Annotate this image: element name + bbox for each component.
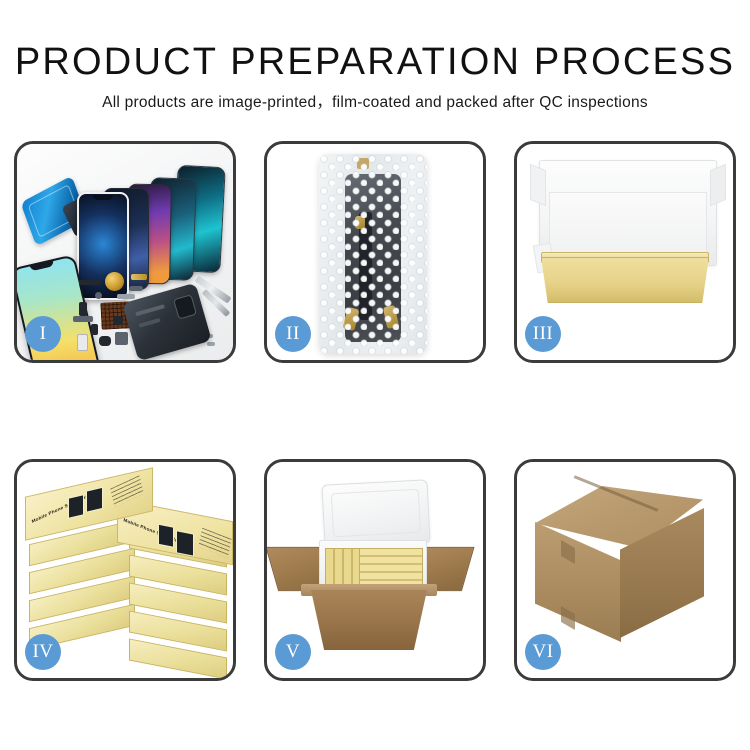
carton-body-icon: [303, 590, 435, 650]
housing-slot: [135, 304, 165, 316]
step-badge-1: I: [25, 316, 61, 352]
part-icon: [115, 332, 128, 345]
process-step-panel-4: Mobile Phone Spare Parts Mobile Phone Sp…: [14, 459, 236, 681]
box-spec-lines: [198, 528, 231, 558]
foam-lid-icon: [321, 479, 430, 548]
box-window-icon: [176, 530, 194, 556]
product-preparation-infographic: PRODUCT PREPARATION PROCESS All products…: [0, 0, 750, 750]
foam-sheet-icon: [549, 192, 707, 260]
box-window-icon: [68, 494, 84, 519]
part-icon: [77, 334, 88, 351]
process-step-grid: I II: [14, 141, 736, 681]
process-step-panel-3: III: [514, 141, 736, 363]
step-badge-2: II: [275, 316, 311, 352]
part-icon: [79, 280, 101, 285]
yellow-box-icon: [541, 257, 709, 303]
box-spec-lines: [110, 475, 144, 507]
part-icon: [79, 302, 87, 316]
camera-module-icon: [173, 294, 197, 319]
screw-icon: [207, 342, 215, 346]
box-window-icon: [158, 524, 174, 548]
part-icon: [99, 336, 111, 346]
coil-component-icon: [105, 272, 124, 291]
step-badge-5: V: [275, 634, 311, 670]
step-badge-4: IV: [25, 634, 61, 670]
screw-icon: [95, 292, 102, 299]
header: PRODUCT PREPARATION PROCESS All products…: [0, 40, 750, 113]
page-subtitle: All products are image-printed，film-coat…: [0, 93, 750, 113]
box-window-icon: [86, 487, 103, 513]
part-icon: [91, 324, 98, 335]
step-badge-3: III: [525, 316, 561, 352]
page-title: PRODUCT PREPARATION PROCESS: [0, 40, 750, 84]
bubble-wrap-bag-icon: [319, 154, 427, 354]
part-icon: [73, 316, 93, 322]
yellow-boxes-icon: [359, 548, 423, 588]
bubble-texture: [319, 154, 427, 354]
process-step-panel-2: II: [264, 141, 486, 363]
process-step-panel-1: I: [14, 141, 236, 363]
housing-slot: [138, 318, 160, 328]
process-step-panel-5: V: [264, 459, 486, 681]
part-icon: [129, 286, 143, 291]
process-step-panel-6: VI: [514, 459, 736, 681]
step-badge-6: VI: [525, 634, 561, 670]
part-icon: [131, 274, 147, 280]
part-icon: [113, 316, 123, 325]
part-icon: [117, 294, 135, 299]
